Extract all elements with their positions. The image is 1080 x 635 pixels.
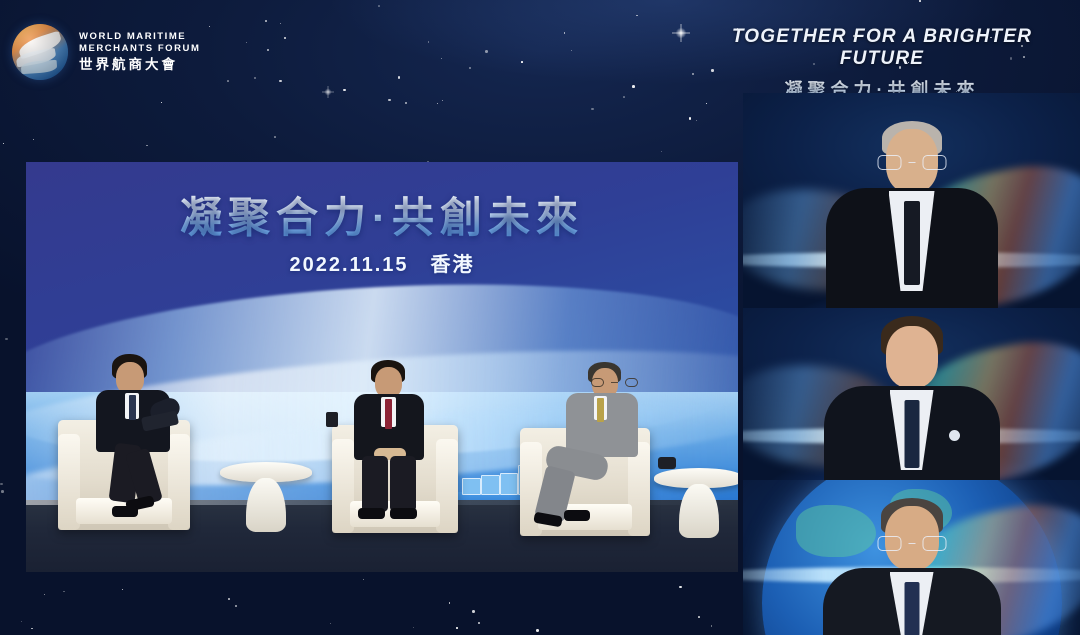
broadcast-screen: WORLD MARITIME MERCHANTS FORUM 世界航商大會 TO…	[0, 0, 1080, 635]
event-tagline: TOGETHER FOR A BRIGHTER FUTURE 凝聚合力·共創未來	[702, 26, 1062, 102]
brand-line2: MERCHANTS FORUM	[79, 43, 200, 54]
remote-speaker-tile-3[interactable]	[743, 480, 1080, 635]
remote-speaker-tile-1[interactable]	[743, 93, 1080, 308]
globe-sail-logo-icon	[12, 24, 68, 80]
remote-participants-panel	[743, 93, 1080, 635]
stage-screen-title: 凝聚合力·共創未來	[26, 184, 738, 245]
side-table-left	[220, 462, 312, 540]
sparkle-star-icon	[672, 24, 690, 42]
brand-lockup: WORLD MARITIME MERCHANTS FORUM 世界航商大會	[12, 24, 200, 80]
remote-speaker-tile-2[interactable]	[743, 308, 1080, 480]
tagline-english: TOGETHER FOR A BRIGHTER FUTURE	[702, 26, 1062, 70]
eyeglasses-icon	[877, 536, 946, 551]
lapel-pin-icon	[949, 430, 960, 441]
eyeglasses-icon	[877, 155, 946, 170]
side-table-right	[654, 468, 738, 544]
main-stage-video[interactable]: 凝聚合力·共創未來 2022.11.15 香港	[26, 162, 738, 572]
brand-line1: WORLD MARITIME	[79, 31, 200, 42]
sparkle-star-icon	[322, 86, 334, 98]
brand-text: WORLD MARITIME MERCHANTS FORUM 世界航商大會	[79, 31, 200, 72]
stage-screen-subtitle: 2022.11.15 香港	[26, 248, 738, 277]
brand-chinese: 世界航商大會	[79, 57, 200, 73]
